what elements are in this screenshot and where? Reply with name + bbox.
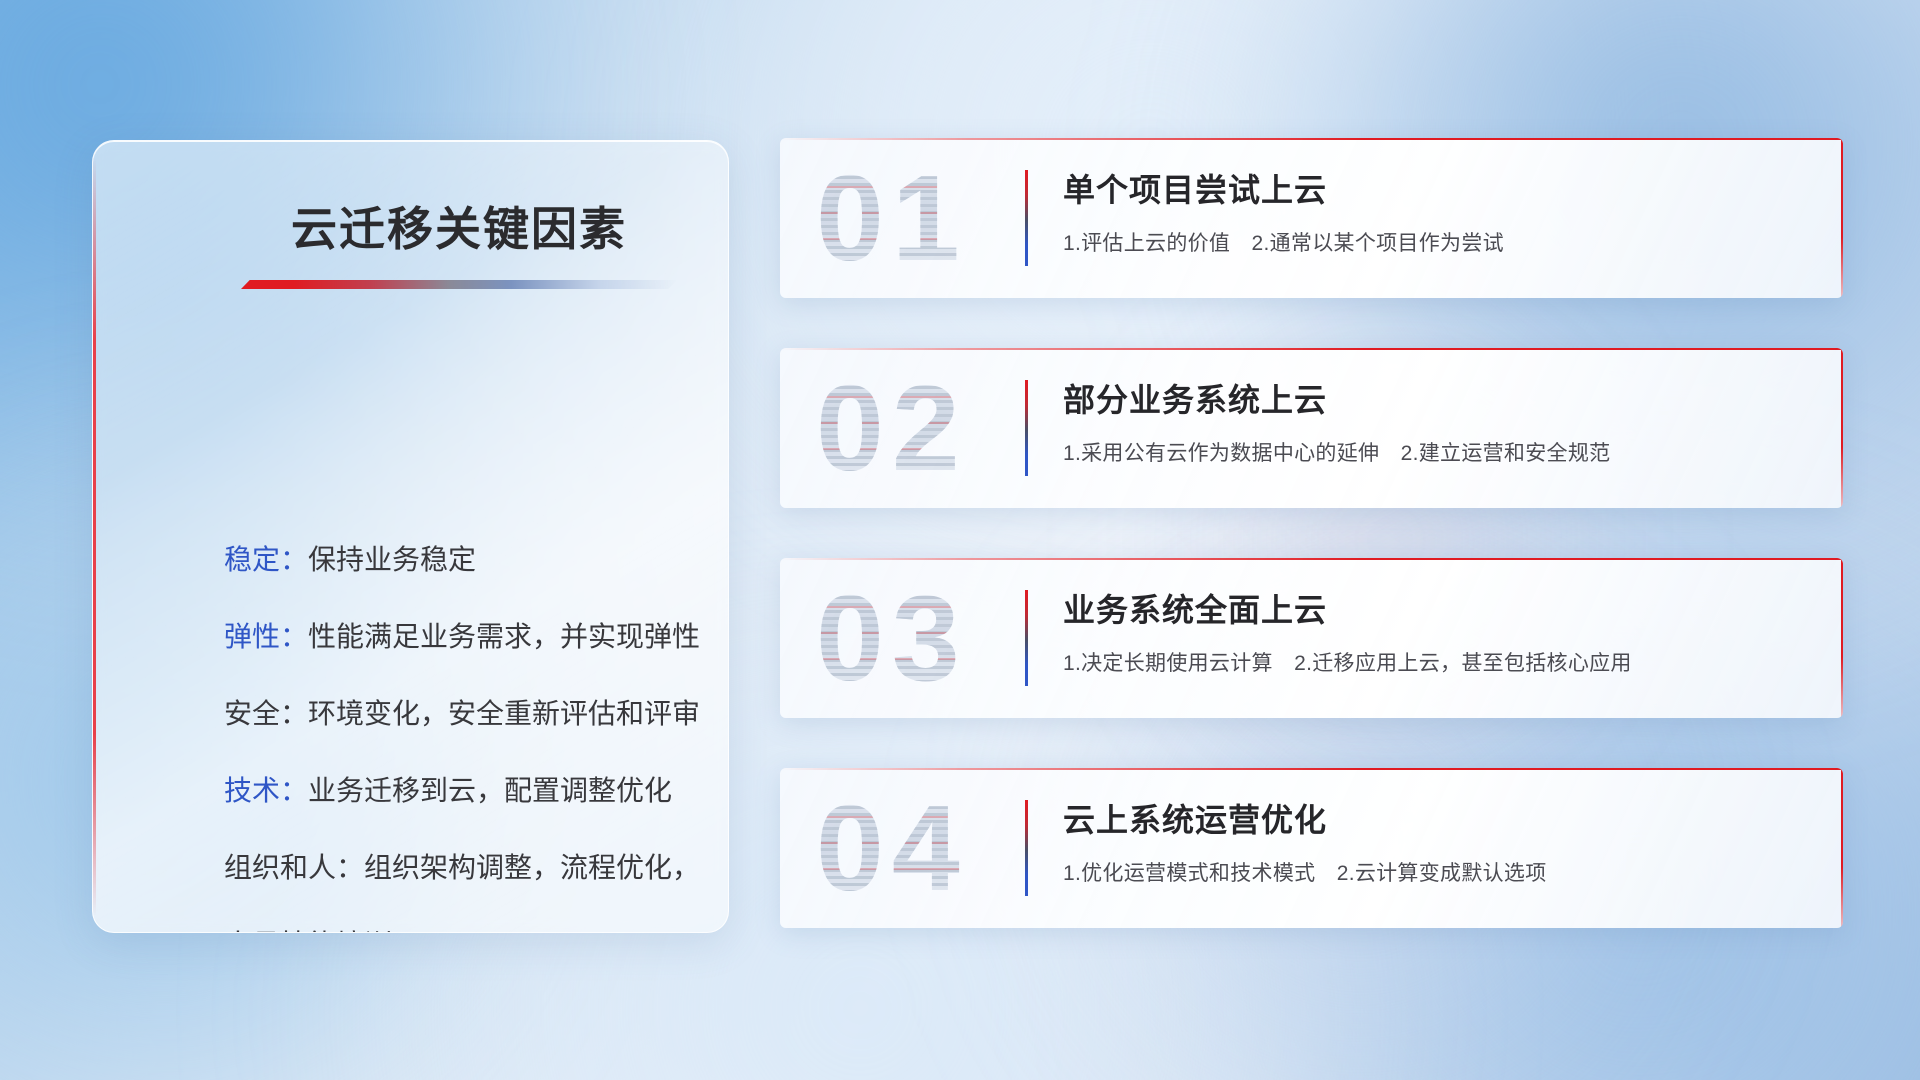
stage-card[interactable]: 0303业务系统全面上云1.决定长期使用云计算 2.迁移应用上云，甚至包括核心应… bbox=[780, 558, 1843, 718]
factor-row: 组织和人：组织架构调整，流程优化， bbox=[224, 829, 688, 906]
card-description: 1.采用公有云作为数据中心的延伸 2.建立运营和安全规范 bbox=[1063, 437, 1610, 467]
factor-label: 技术： bbox=[224, 775, 308, 806]
factor-text: 保持业务稳定 bbox=[308, 544, 476, 575]
factor-row: 稳定：保持业务稳定 bbox=[224, 521, 688, 598]
factor-label: 安全： bbox=[224, 698, 308, 729]
card-title: 业务系统全面上云 bbox=[1063, 585, 1327, 631]
card-divider-bar bbox=[1025, 590, 1028, 686]
key-factors-panel: 云迁移关键因素 稳定：保持业务稳定弹性：性能满足业务需求，并实现弹性安全：环境变… bbox=[92, 140, 729, 933]
stage-card[interactable]: 0101单个项目尝试上云1.评估上云的价值 2.通常以某个项目作为尝试 bbox=[780, 138, 1843, 298]
factor-label: 稳定： bbox=[224, 544, 308, 575]
stage-card-list: 0101单个项目尝试上云1.评估上云的价值 2.通常以某个项目作为尝试0202部… bbox=[780, 138, 1843, 978]
card-divider-bar bbox=[1025, 800, 1028, 896]
factor-row: 技术：业务迁移到云，配置调整优化 bbox=[224, 752, 688, 829]
page-title: 云迁移关键因素 bbox=[291, 193, 627, 259]
factor-list: 稳定：保持业务稳定弹性：性能满足业务需求，并实现弹性安全：环境变化，安全重新评估… bbox=[224, 521, 688, 933]
stage-number-accent-overlay: 02 bbox=[816, 348, 968, 508]
stage-number-accent-overlay: 01 bbox=[816, 138, 968, 298]
stage-card[interactable]: 0202部分业务系统上云1.采用公有云作为数据中心的延伸 2.建立运营和安全规范 bbox=[780, 348, 1843, 508]
card-title: 部分业务系统上云 bbox=[1063, 375, 1327, 421]
card-description: 1.决定长期使用云计算 2.迁移应用上云，甚至包括核心应用 bbox=[1063, 647, 1632, 677]
factor-row: 安全：环境变化，安全重新评估和评审 bbox=[224, 675, 688, 752]
stage-card[interactable]: 0404云上系统运营优化1.优化运营模式和技术模式 2.云计算变成默认选项 bbox=[780, 768, 1843, 928]
factor-row: 弹性：性能满足业务需求，并实现弹性 bbox=[224, 598, 688, 675]
card-title: 单个项目尝试上云 bbox=[1063, 165, 1327, 211]
factor-text: 组织架构调整，流程优化， bbox=[364, 852, 700, 883]
factor-label: 组织和人： bbox=[224, 852, 364, 883]
card-description: 1.评估上云的价值 2.通常以某个项目作为尝试 bbox=[1063, 227, 1504, 257]
card-divider-bar bbox=[1025, 380, 1028, 476]
factor-text: 环境变化，安全重新评估和评审 bbox=[308, 698, 700, 729]
card-divider-bar bbox=[1025, 170, 1028, 266]
stage-number-accent-overlay: 04 bbox=[816, 768, 968, 928]
factor-text: 人员技能培训 bbox=[224, 929, 392, 933]
factor-text: 业务迁移到云，配置调整优化 bbox=[308, 775, 672, 806]
card-title: 云上系统运营优化 bbox=[1063, 795, 1327, 841]
title-underline-rule bbox=[241, 280, 677, 289]
card-description: 1.优化运营模式和技术模式 2.云计算变成默认选项 bbox=[1063, 857, 1547, 887]
factor-label: 弹性： bbox=[224, 621, 308, 652]
factor-row: 人员技能培训 bbox=[224, 906, 688, 933]
stage-number-accent-overlay: 03 bbox=[816, 558, 968, 718]
factor-text: 性能满足业务需求，并实现弹性 bbox=[308, 621, 700, 652]
